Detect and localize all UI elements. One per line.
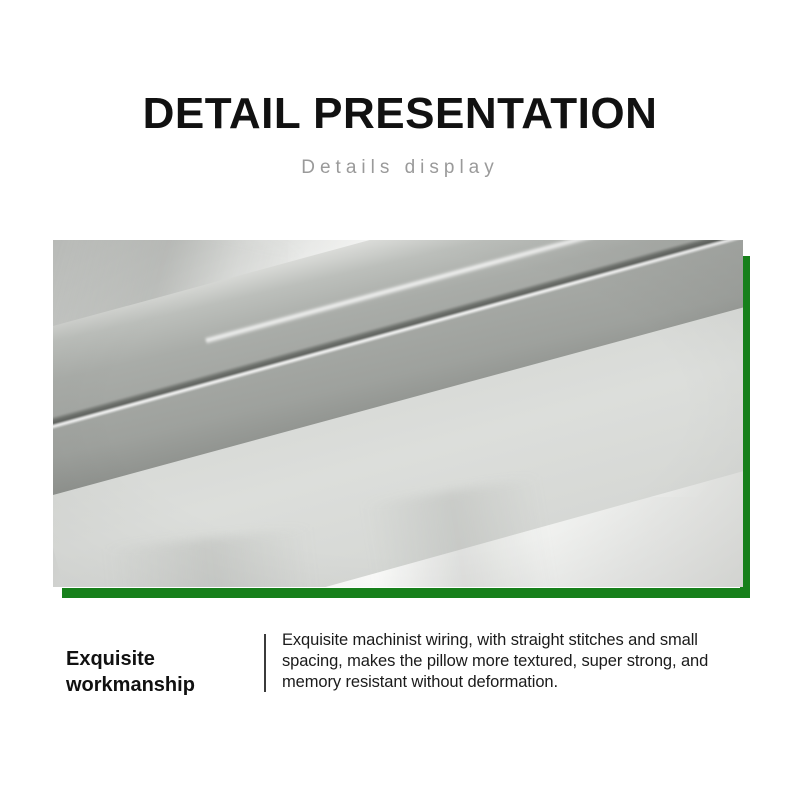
- page-header: DETAIL PRESENTATION Details display: [0, 88, 800, 180]
- caption-body: Exquisite machinist wiring, with straigh…: [282, 630, 756, 693]
- caption-row: Exquisite workmanship Exquisite machinis…: [66, 630, 756, 698]
- caption-heading: Exquisite workmanship: [66, 630, 256, 698]
- detail-image-block: [53, 240, 750, 598]
- pillow-seam-closeup-photo: [53, 240, 743, 587]
- detail-presentation-page: DETAIL PRESENTATION Details display Exqu…: [0, 0, 800, 800]
- photo-layer-vignette: [53, 240, 743, 587]
- caption-divider: [264, 634, 266, 692]
- page-subtitle: Details display: [0, 156, 800, 180]
- page-title: DETAIL PRESENTATION: [0, 88, 800, 140]
